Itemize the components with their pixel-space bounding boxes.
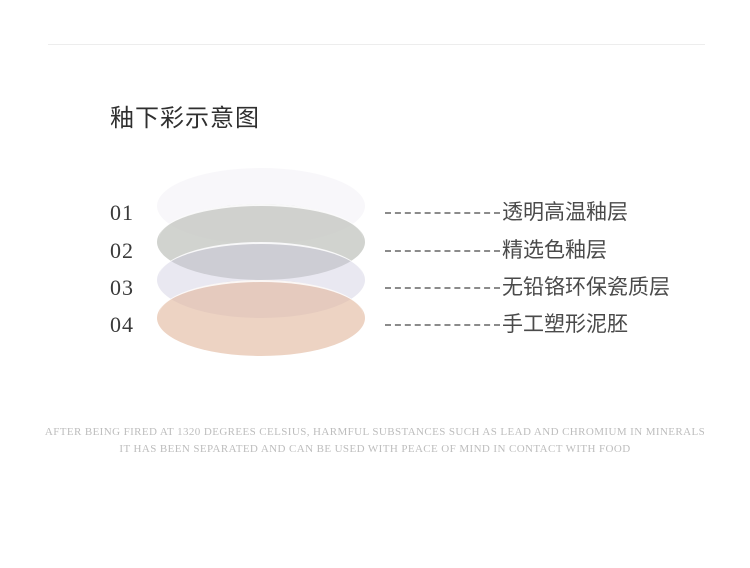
page-root: 釉下彩示意图 01 透明高温釉层 02 精选色釉层 03 无铅铬环保瓷质层 04 bbox=[0, 0, 750, 568]
legend-index-02: 02 bbox=[110, 236, 160, 266]
legend-leader-01 bbox=[385, 212, 500, 215]
legend-row-01: 01 透明高温釉层 bbox=[0, 198, 750, 232]
legend-label-04: 手工塑形泥胚 bbox=[502, 310, 628, 340]
legend-leader-02 bbox=[385, 250, 500, 253]
legend-row-03: 03 无铅铬环保瓷质层 bbox=[0, 273, 750, 307]
legend-index-03: 03 bbox=[110, 273, 160, 303]
legend-leader-04 bbox=[385, 324, 500, 327]
footer-caption: AFTER BEING FIRED AT 1320 DEGREES CELSIU… bbox=[0, 424, 750, 458]
legend-label-01: 透明高温釉层 bbox=[502, 198, 628, 228]
legend-row-02: 02 精选色釉层 bbox=[0, 236, 750, 270]
legend-label-02: 精选色釉层 bbox=[502, 236, 607, 266]
layer-legend-list: 01 透明高温釉层 02 精选色釉层 03 无铅铬环保瓷质层 04 手工塑形泥胚 bbox=[0, 0, 750, 568]
legend-row-04: 04 手工塑形泥胚 bbox=[0, 310, 750, 344]
footer-caption-line-1: AFTER BEING FIRED AT 1320 DEGREES CELSIU… bbox=[0, 424, 750, 441]
legend-label-03: 无铅铬环保瓷质层 bbox=[502, 273, 670, 303]
legend-index-04: 04 bbox=[110, 310, 160, 340]
footer-caption-line-2: IT HAS BEEN SEPARATED AND CAN BE USED WI… bbox=[0, 441, 750, 458]
legend-leader-03 bbox=[385, 287, 500, 290]
legend-index-01: 01 bbox=[110, 198, 160, 228]
